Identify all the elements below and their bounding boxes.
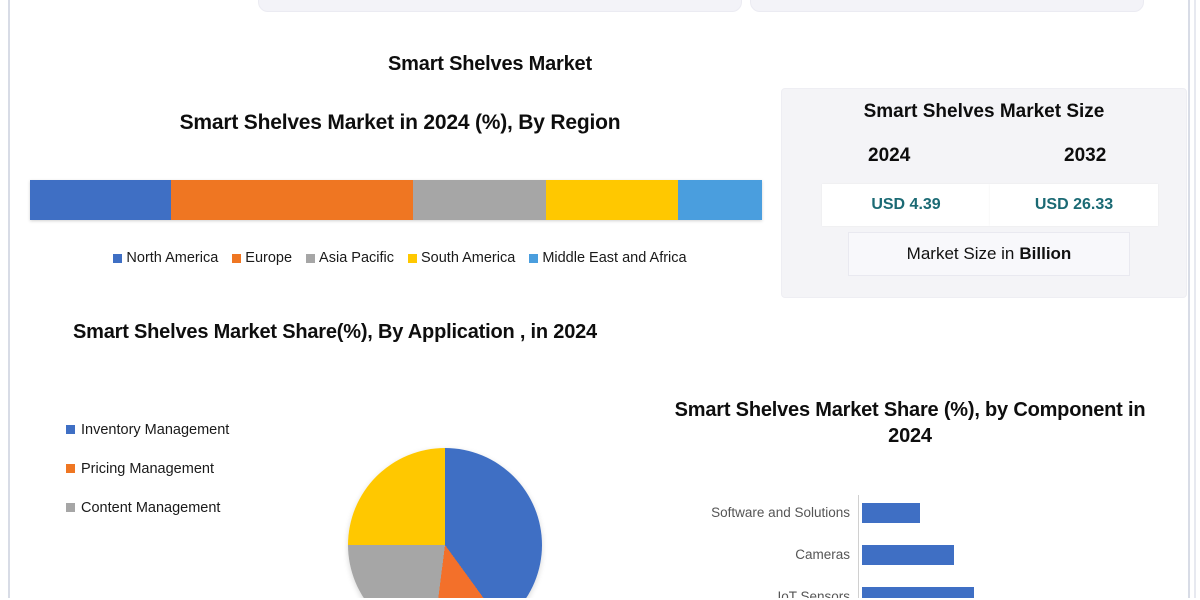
region-legend-item: North America <box>113 250 218 266</box>
region-bar-segment <box>413 180 546 220</box>
application-legend-label: Pricing Management <box>81 459 214 480</box>
application-pie-wrapper <box>348 448 542 600</box>
legend-swatch-icon <box>306 254 315 263</box>
market-size-unit-note: Market Size in Billion <box>848 232 1130 276</box>
component-bar <box>862 503 920 523</box>
application-legend-label: Inventory Management <box>81 420 229 441</box>
region-legend-label: Europe <box>245 250 292 266</box>
application-chart-title: Smart Shelves Market Share(%), By Applic… <box>30 320 640 346</box>
region-bar-segment <box>678 180 762 220</box>
market-size-unit-prefix: Market Size in <box>907 244 1015 264</box>
legend-swatch-icon <box>66 425 75 434</box>
region-legend-item: Asia Pacific <box>306 250 394 266</box>
region-bar-segment <box>30 180 171 220</box>
legend-swatch-icon <box>66 464 75 473</box>
component-bar-label: Software and Solutions <box>640 505 862 520</box>
region-legend-label: Asia Pacific <box>319 250 394 266</box>
component-bar-chart: Software and SolutionsCamerasIoT Sensors <box>640 495 1060 600</box>
region-chart-title: Smart Shelves Market in 2024 (%), By Reg… <box>30 110 770 137</box>
component-chart-title: Smart Shelves Market Share (%), by Compo… <box>660 398 1160 449</box>
component-bar-row: IoT Sensors <box>640 579 1060 600</box>
top-cropped-card-right <box>750 0 1144 12</box>
application-legend: Inventory ManagementPricing ManagementCo… <box>66 420 246 537</box>
application-legend-item: Pricing Management <box>66 459 246 480</box>
application-legend-label: Content Management <box>81 498 220 519</box>
application-legend-item: Inventory Management <box>66 420 246 441</box>
region-bar-segment <box>171 180 413 220</box>
application-pie-chart <box>348 448 542 600</box>
region-stacked-bar <box>30 180 762 220</box>
page-title: Smart Shelves Market <box>100 52 880 78</box>
legend-swatch-icon <box>113 254 122 263</box>
market-size-year-end: 2032 <box>1064 145 1106 167</box>
region-bar-segment <box>546 180 678 220</box>
region-legend-item: South America <box>408 250 515 266</box>
region-legend-label: South America <box>421 250 515 266</box>
market-size-unit-bold: Billion <box>1019 244 1071 264</box>
legend-swatch-icon <box>66 503 75 512</box>
component-bar-row: Software and Solutions <box>640 495 1060 530</box>
component-bar-row: Cameras <box>640 537 1060 572</box>
legend-swatch-icon <box>232 254 241 263</box>
market-size-year-start: 2024 <box>868 145 910 167</box>
application-legend-item: Content Management <box>66 498 246 519</box>
region-legend-label: Middle East and Africa <box>542 250 686 266</box>
page-right-border-outer <box>1194 0 1196 600</box>
page-left-border <box>8 0 10 600</box>
legend-swatch-icon <box>529 254 538 263</box>
page-right-border <box>1188 0 1190 600</box>
market-size-panel-title: Smart Shelves Market Size <box>802 99 1166 125</box>
region-legend-item: Europe <box>232 250 292 266</box>
market-size-value-start: USD 4.39 <box>822 184 990 226</box>
market-size-value-end: USD 26.33 <box>990 184 1158 226</box>
component-bar-label: Cameras <box>640 547 862 562</box>
region-legend: North AmericaEuropeAsia PacificSouth Ame… <box>30 250 770 266</box>
infographic-page: Smart Shelves Market Smart Shelves Marke… <box>0 0 1200 600</box>
top-cropped-card-left <box>258 0 742 12</box>
legend-swatch-icon <box>408 254 417 263</box>
region-legend-label: North America <box>126 250 218 266</box>
component-bar <box>862 545 954 565</box>
region-legend-item: Middle East and Africa <box>529 250 686 266</box>
market-size-panel: Smart Shelves Market Size 2024 2032 USD … <box>781 88 1187 298</box>
